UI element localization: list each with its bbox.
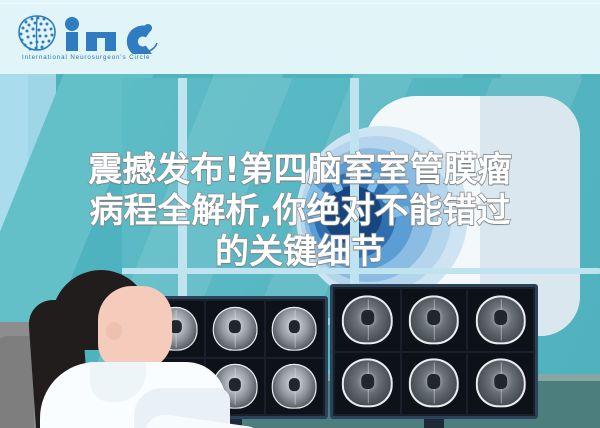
mri-slice-grid <box>335 289 533 414</box>
brain-scan-image <box>475 295 525 344</box>
mri-slice <box>468 353 533 415</box>
brain-scan-image <box>272 364 317 408</box>
monitor-right[interactable] <box>330 284 542 428</box>
mri-slice <box>335 353 400 415</box>
mri-slice <box>335 289 400 351</box>
brain-scan-image <box>342 359 392 408</box>
radiologist-figure-icon <box>0 270 234 428</box>
mri-slice <box>266 301 323 357</box>
brain-scan-image <box>409 359 459 408</box>
poster-root: International Neurosurgeon's Circle <box>0 0 600 428</box>
monitor-right-screen[interactable] <box>330 284 538 419</box>
brain-inc-logo-icon <box>16 12 166 54</box>
mri-slice <box>266 359 323 415</box>
page-title: 震撼发布!第四脑室室管膜瘤 病程全解析,你绝对不能错过 的关键细节 <box>0 150 600 273</box>
mri-slice <box>468 289 533 351</box>
brain-scan-image <box>342 295 392 344</box>
brain-scan-image <box>409 295 459 344</box>
mri-slice <box>402 289 467 351</box>
mri-slice <box>402 353 467 415</box>
brain-scan-image <box>475 359 525 408</box>
brand-tagline: International Neurosurgeon's Circle <box>22 54 182 61</box>
office-chair-shade <box>0 336 34 428</box>
brand-logo: International Neurosurgeon's Circle <box>16 12 184 70</box>
brain-scan-image <box>272 307 317 351</box>
monitor-right-neck <box>424 419 444 428</box>
header-band: International Neurosurgeon's Circle <box>0 0 600 74</box>
header-hairline <box>0 3 600 4</box>
ear <box>106 322 122 340</box>
